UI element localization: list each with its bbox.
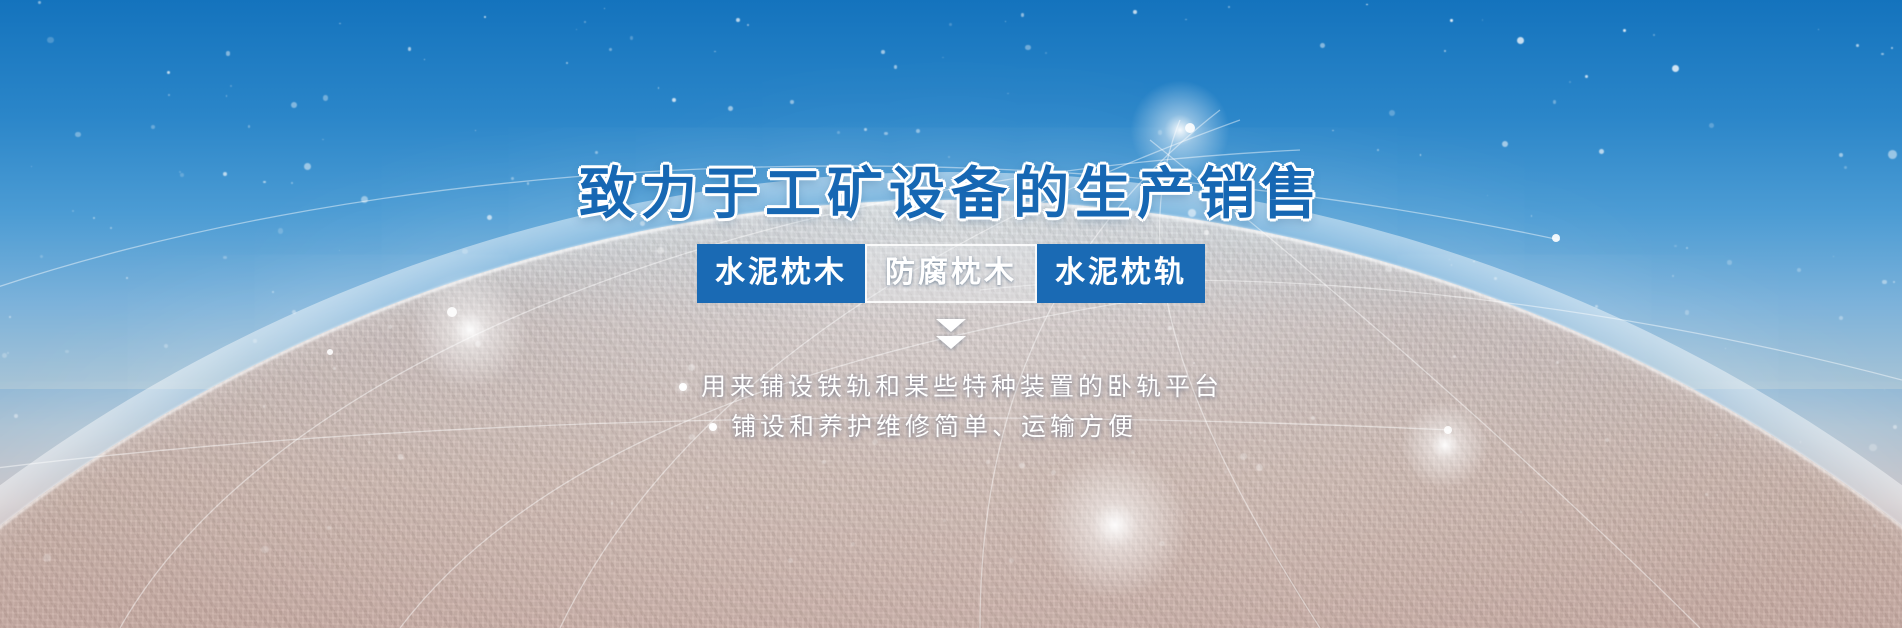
list-item: 用来铺设铁轨和某些特种装置的卧轨平台: [679, 367, 1223, 407]
feature-bullet-list: 用来铺设铁轨和某些特种装置的卧轨平台 铺设和养护维修简单、运输方便: [679, 367, 1223, 447]
badge-product-3[interactable]: 水泥枕轨: [1037, 244, 1205, 303]
banner-content: 致力于工矿设备的生产销售 水泥枕木 防腐枕木 水泥枕轨 用来铺设铁轨和某些特种装…: [0, 0, 1902, 628]
bullet-dot-icon: [679, 383, 687, 391]
product-badge-group: 水泥枕木 防腐枕木 水泥枕轨: [697, 244, 1205, 303]
list-item-label: 铺设和养护维修简单、运输方便: [731, 407, 1137, 447]
list-item: 铺设和养护维修简单、运输方便: [709, 407, 1137, 447]
list-item-label: 用来铺设铁轨和某些特种装置的卧轨平台: [701, 367, 1223, 407]
bullet-dot-icon: [709, 423, 717, 431]
badge-product-1[interactable]: 水泥枕木: [697, 244, 865, 303]
chevron-down-icon: [936, 336, 966, 349]
double-chevron-down-icon: [936, 319, 966, 353]
badge-label: 防腐枕木: [885, 255, 1017, 290]
page-title: 致力于工矿设备的生产销售: [579, 166, 1323, 222]
hero-banner: 致力于工矿设备的生产销售 水泥枕木 防腐枕木 水泥枕轨 用来铺设铁轨和某些特种装…: [0, 0, 1902, 628]
badge-label: 水泥枕轨: [1055, 255, 1187, 290]
badge-product-2[interactable]: 防腐枕木: [865, 244, 1037, 303]
chevron-down-icon: [936, 319, 966, 332]
badge-label: 水泥枕木: [715, 255, 847, 290]
